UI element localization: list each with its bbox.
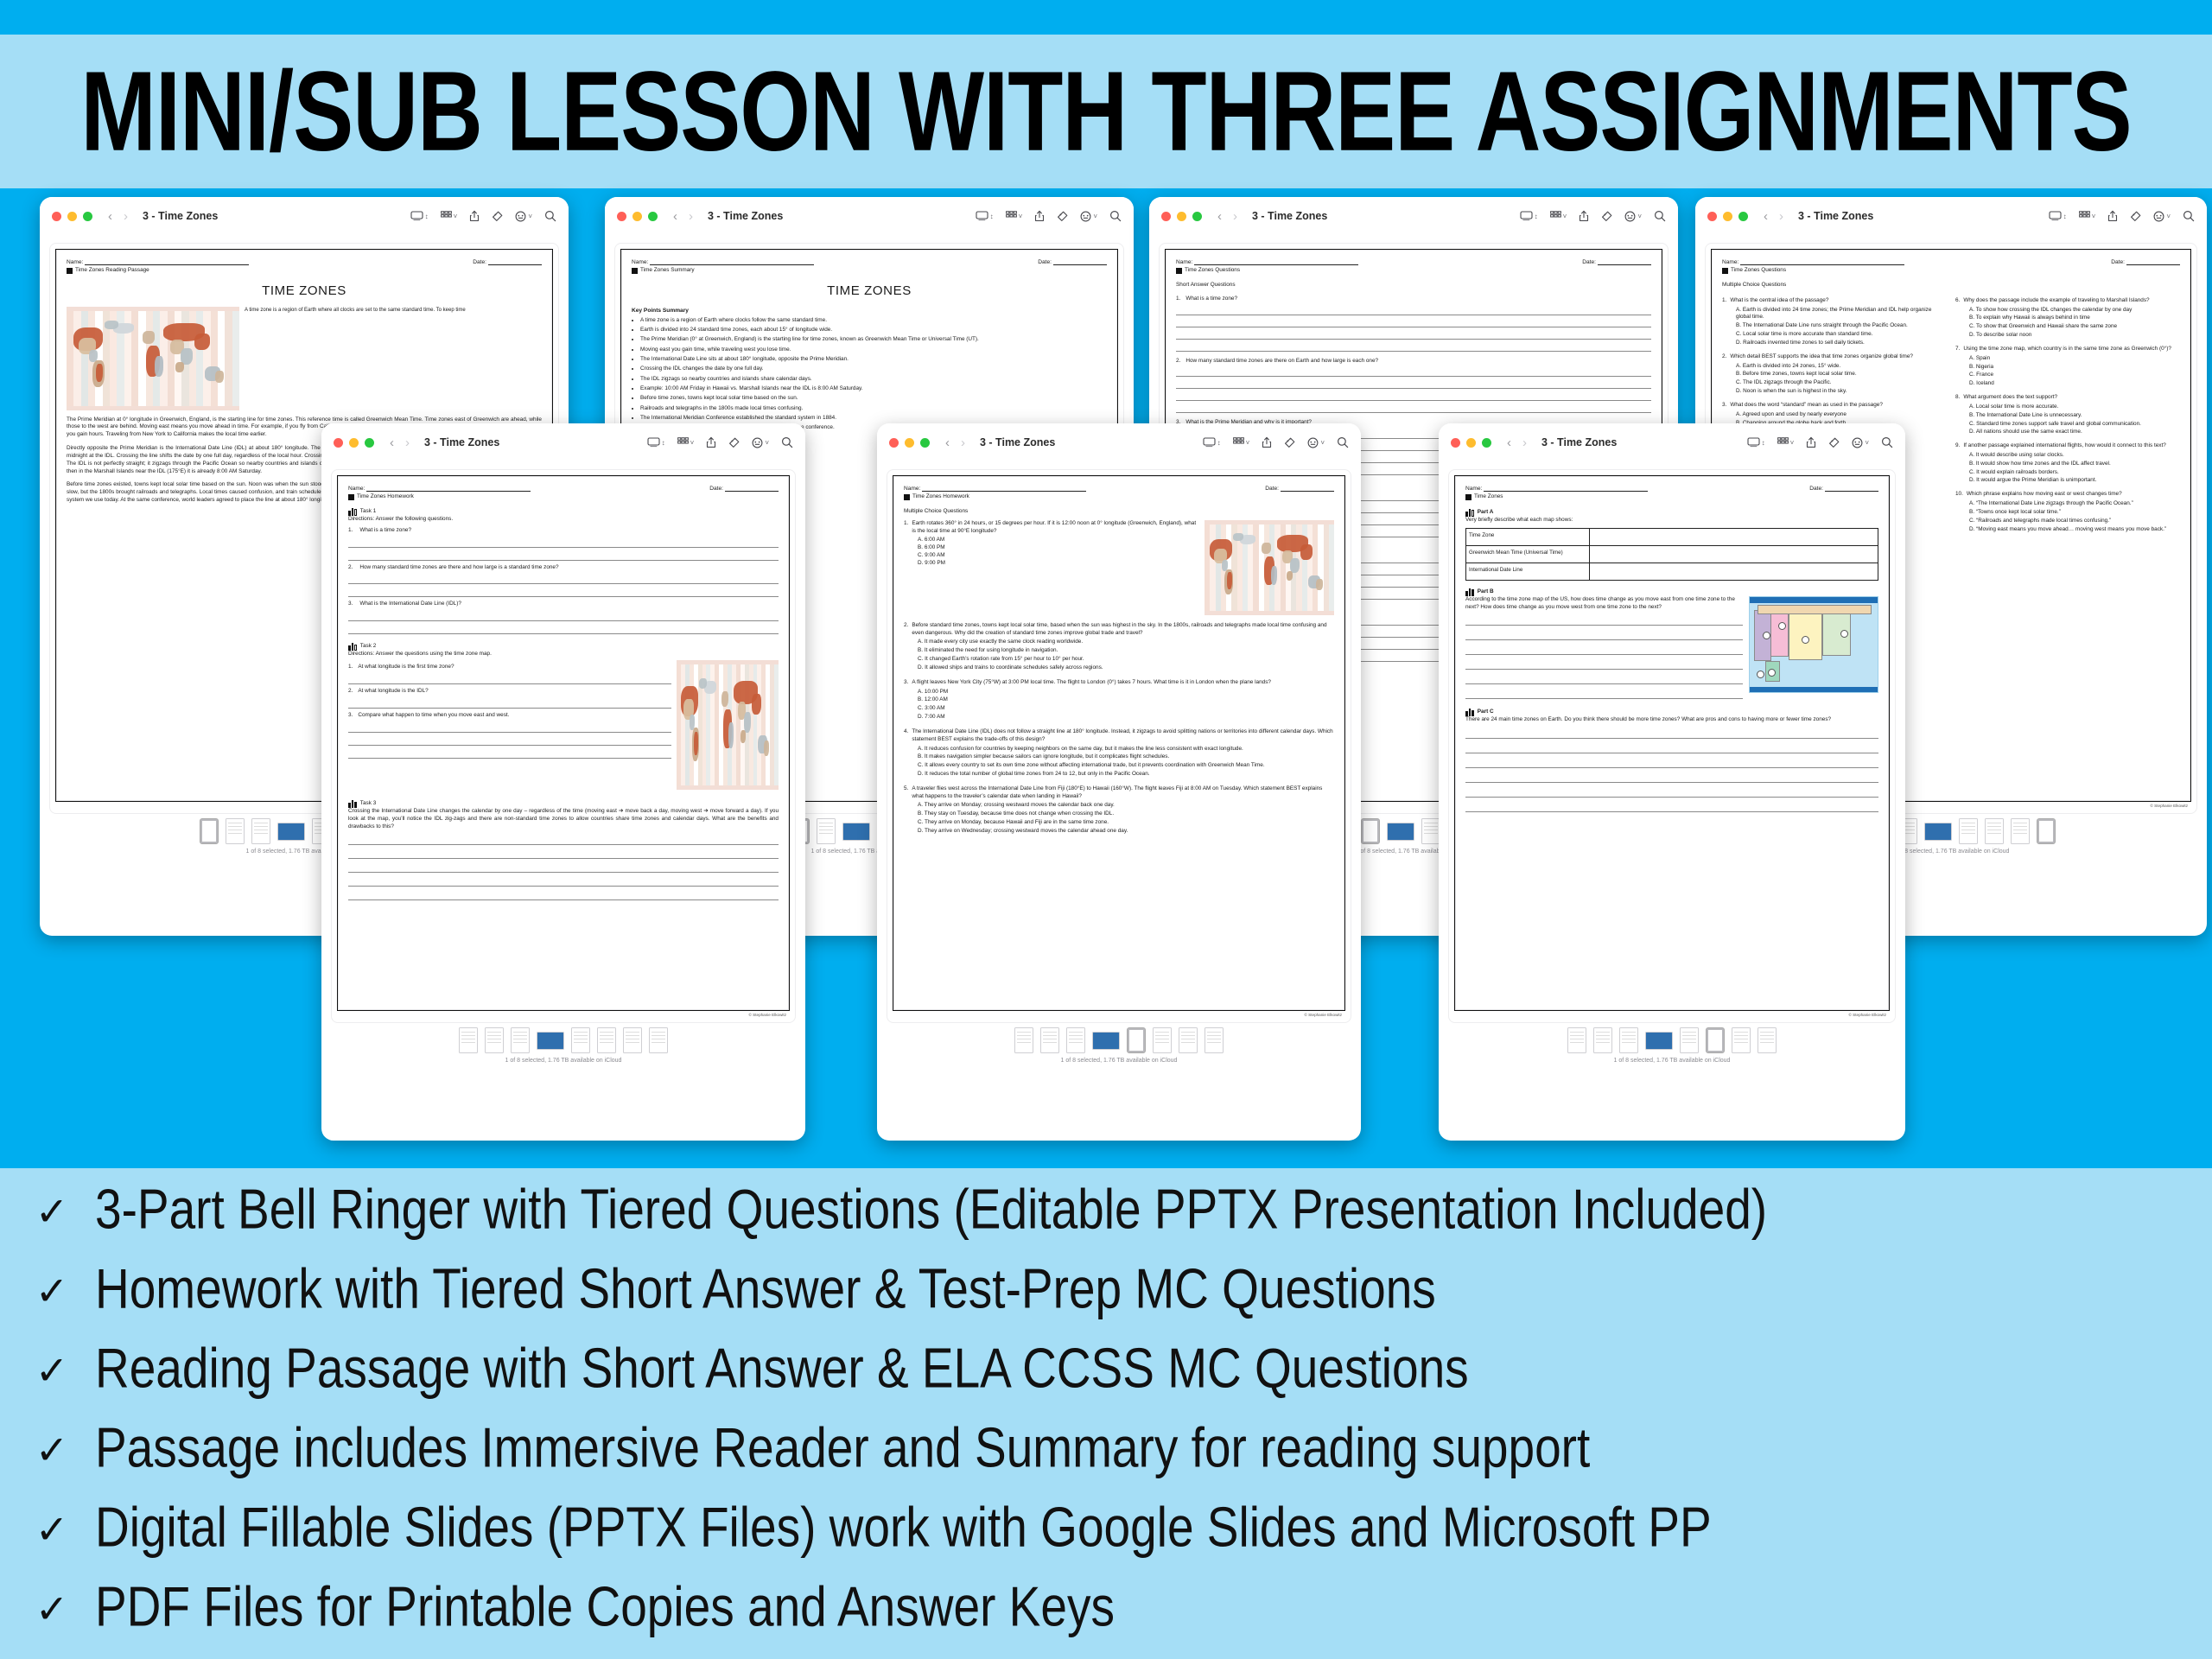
back-icon[interactable]: ‹: [1217, 210, 1222, 223]
forward-icon[interactable]: ›: [1522, 436, 1527, 449]
close-icon[interactable]: [334, 438, 343, 448]
thumbnail-item[interactable]: [459, 1027, 478, 1053]
chevron-down-icon[interactable]: ˅: [690, 439, 695, 447]
search-icon[interactable]: [1654, 210, 1666, 222]
nav-arrows[interactable]: ‹ ›: [945, 436, 965, 449]
thumbnail-item[interactable]: [1014, 1027, 1033, 1053]
thumbnail-item[interactable]: [1619, 1027, 1638, 1053]
thumbnail-item[interactable]: [1040, 1027, 1059, 1053]
name-date-row: Name: Date:: [904, 485, 1334, 493]
back-icon[interactable]: ‹: [673, 210, 677, 223]
close-icon[interactable]: [1161, 212, 1171, 221]
document-tag-label: Time Zones Questions: [1731, 267, 1786, 275]
mc-choice[interactable]: A. Local solar time is more accurate.: [1969, 404, 2180, 411]
mc-choice[interactable]: A. It made every city use exactly the sa…: [918, 639, 1334, 646]
date-label: Date:: [1809, 485, 1823, 493]
name-label: Name:: [1176, 258, 1192, 266]
tag-icon[interactable]: [1057, 211, 1068, 222]
thumbnail-item[interactable]: [571, 1027, 590, 1053]
mc-choice[interactable]: D. It would argue the Prime Meridian is …: [1969, 477, 2180, 485]
thumbnail-item[interactable]: [226, 818, 245, 844]
thumbnail-item[interactable]: [597, 1027, 616, 1053]
more-actions-icon[interactable]: ˅: [1307, 437, 1325, 448]
chevron-down-icon[interactable]: ˅: [765, 439, 769, 447]
chevron-down-icon[interactable]: ˅: [1246, 439, 1250, 447]
name-label: Name:: [904, 485, 920, 493]
gallery-view-icon[interactable]: ↕: [1747, 437, 1765, 448]
view-stepper-icon[interactable]: ↕: [2063, 213, 2067, 220]
mc-choice[interactable]: B. They stay on Tuesday, because time do…: [918, 810, 1334, 818]
answer-line[interactable]: [348, 725, 671, 733]
answer-line[interactable]: [1465, 618, 1743, 626]
task-header: Task 1: [348, 508, 779, 516]
mc-choice[interactable]: D. 9:00 PM: [918, 560, 1198, 568]
document-tag-label: Time Zones Summary: [640, 267, 695, 275]
name-input[interactable]: [1740, 264, 1904, 265]
minimize-icon[interactable]: [67, 212, 77, 221]
map-description-table: Time Zone Greenwich Mean Time (Universal…: [1465, 528, 1878, 581]
back-icon[interactable]: ‹: [108, 210, 112, 223]
answer-line[interactable]: [1465, 790, 1878, 798]
mc-choice[interactable]: C. It would explain railroads borders.: [1969, 469, 2180, 477]
answer-line[interactable]: [1465, 746, 1878, 753]
mc-choice[interactable]: B. It eliminated the need for using long…: [918, 647, 1334, 655]
answer-line[interactable]: [348, 677, 671, 684]
mc-choice[interactable]: D. 7:00 AM: [918, 714, 1334, 721]
date-input[interactable]: [1281, 491, 1334, 492]
answer-line[interactable]: [348, 553, 779, 561]
minimize-icon[interactable]: [1466, 438, 1476, 448]
search-icon[interactable]: [1109, 210, 1122, 222]
forward-icon[interactable]: ›: [689, 210, 693, 223]
task-bar-icon: [1465, 588, 1474, 596]
thumbnail-strip[interactable]: [1449, 1022, 1895, 1056]
answer-line[interactable]: [1465, 632, 1743, 640]
window-bell-ringer[interactable]: ‹ › 3 - Time Zones ↕ ˅ ˅: [1439, 423, 1905, 1141]
thumbnail-item[interactable]: [623, 1027, 642, 1053]
thumbnail-item[interactable]: [1387, 823, 1414, 841]
thumbnail-item-selected[interactable]: [1706, 1027, 1725, 1053]
mc-choice[interactable]: A. It would describe using solar clocks.: [1969, 452, 2180, 460]
answer-line[interactable]: [1465, 647, 1743, 655]
mc-choice[interactable]: C. It allows every country to set its ow…: [918, 762, 1334, 770]
answer-line[interactable]: [348, 589, 779, 597]
mc-choice[interactable]: C. Standard time zones support safe trav…: [1969, 421, 2180, 429]
bullet-square-icon: [1722, 268, 1728, 274]
close-icon[interactable]: [1707, 212, 1717, 221]
summary-heading: Key Points Summary: [632, 307, 1107, 315]
share-icon[interactable]: [706, 436, 716, 448]
thumbnail-item[interactable]: [1066, 1027, 1085, 1053]
question-number: 7.: [1955, 346, 1960, 353]
group-by-icon[interactable]: ˅: [1006, 211, 1023, 221]
thumbnail-item[interactable]: [2011, 818, 2030, 844]
minimize-icon[interactable]: [632, 212, 642, 221]
tag-icon[interactable]: [492, 211, 503, 222]
summary-point: A time zone is a region of Earth where c…: [640, 317, 1107, 325]
group-by-icon[interactable]: ˅: [1550, 211, 1567, 221]
traffic-lights[interactable]: [617, 212, 658, 221]
thumbnail-item[interactable]: [1985, 818, 2004, 844]
answer-line[interactable]: [348, 865, 779, 873]
chevron-down-icon[interactable]: ˅: [1865, 439, 1869, 447]
answer-line[interactable]: [1176, 393, 1651, 401]
forward-icon[interactable]: ›: [961, 436, 965, 449]
document-preview[interactable]: Name: Date: Time Zones Homework Multiple…: [887, 470, 1351, 1022]
thumbnail-item[interactable]: [277, 823, 305, 841]
share-icon[interactable]: [1262, 436, 1272, 448]
chevron-down-icon[interactable]: ˅: [1019, 213, 1023, 220]
question-text: What does the word “standard” mean as us…: [1730, 402, 1883, 410]
mc-choice[interactable]: B. It would show how time zones and the …: [1969, 461, 2180, 468]
document-preview[interactable]: Name: Date: Time Zones Part A Very brief…: [1449, 470, 1895, 1022]
mc-choice[interactable]: A. Spain: [1969, 355, 2180, 363]
share-icon[interactable]: [1579, 210, 1589, 222]
mc-choice[interactable]: A. Earth is divided into 24 time zones; …: [1736, 307, 1947, 322]
mc-choice[interactable]: C. France: [1969, 372, 2180, 379]
mc-choice[interactable]: B. Nigeria: [1969, 364, 2180, 372]
chevron-down-icon[interactable]: ˅: [1790, 439, 1795, 447]
question-text: What is the central idea of the passage?: [1730, 297, 1828, 305]
thumbnail-item[interactable]: [1153, 1027, 1172, 1053]
answer-line[interactable]: [348, 893, 779, 900]
thumbnail-strip[interactable]: [332, 1022, 795, 1056]
chevron-down-icon[interactable]: ˅: [1637, 213, 1642, 220]
date-input[interactable]: [2126, 264, 2180, 265]
chevron-down-icon[interactable]: ˅: [1320, 439, 1325, 447]
search-icon[interactable]: [781, 436, 793, 448]
minimize-icon[interactable]: [1177, 212, 1186, 221]
traffic-lights[interactable]: [52, 212, 92, 221]
view-stepper-icon[interactable]: ↕: [1762, 439, 1765, 447]
mc-choice[interactable]: D. Iceland: [1969, 380, 2180, 388]
answer-line[interactable]: [348, 540, 779, 548]
thumbnail-item[interactable]: [1758, 1027, 1777, 1053]
search-icon[interactable]: [1881, 436, 1893, 448]
more-actions-icon[interactable]: ˅: [1624, 211, 1642, 222]
maximize-icon[interactable]: [1192, 212, 1202, 221]
mc-choice[interactable]: A. “The International Date Line zigzags …: [1969, 500, 2180, 508]
thumbnail-item-selected[interactable]: [1127, 1027, 1146, 1053]
answer-line[interactable]: [348, 751, 671, 759]
mc-choice[interactable]: D. It reduces the total number of global…: [918, 771, 1334, 779]
maximize-icon[interactable]: [1738, 212, 1748, 221]
thumbnail-item[interactable]: [842, 823, 870, 841]
mc-choice[interactable]: B. To explain why Hawaii is always behin…: [1969, 315, 2180, 322]
name-input[interactable]: [1484, 491, 1648, 492]
date-input[interactable]: [725, 491, 779, 492]
answer-line[interactable]: [1176, 308, 1651, 315]
mc-choice[interactable]: B. 12:00 AM: [918, 696, 1334, 704]
window-title: 3 - Time Zones: [424, 436, 499, 448]
view-stepper-icon[interactable]: ↕: [425, 213, 429, 220]
group-by-icon[interactable]: ˅: [1777, 437, 1795, 448]
chevron-down-icon[interactable]: ˅: [1093, 213, 1097, 220]
thumbnail-item[interactable]: [1421, 818, 1440, 844]
thumbnail-item-selected[interactable]: [1361, 818, 1380, 844]
view-stepper-icon[interactable]: ↕: [1535, 213, 1538, 220]
back-icon[interactable]: ‹: [945, 436, 950, 449]
back-icon[interactable]: ‹: [1764, 210, 1768, 223]
back-icon[interactable]: ‹: [1507, 436, 1511, 449]
traffic-lights[interactable]: [1161, 212, 1202, 221]
mc-choice[interactable]: C. 9:00 AM: [918, 552, 1198, 560]
tag-icon[interactable]: [728, 437, 740, 448]
thumbnail-item-selected[interactable]: [2037, 818, 2056, 844]
more-actions-icon[interactable]: ˅: [1852, 437, 1869, 448]
traffic-lights[interactable]: [889, 438, 930, 448]
summary-point: Example: 10:00 AM Friday in Hawaii vs. M…: [640, 385, 1107, 393]
answer-line[interactable]: [1465, 691, 1743, 699]
thumbnail-item[interactable]: [817, 818, 836, 844]
nav-arrows[interactable]: ‹ ›: [1764, 210, 1783, 223]
nav-arrows[interactable]: ‹ ›: [1507, 436, 1527, 449]
close-icon[interactable]: [617, 212, 626, 221]
document-tag-label: Time Zones Homework: [357, 493, 414, 501]
name-date-row: Name: Date:: [1465, 485, 1878, 493]
question-item: 3. Compare what happen to time when you …: [348, 712, 671, 720]
mc-choice[interactable]: A. It reduces confusion for countries by…: [918, 746, 1334, 753]
nav-arrows[interactable]: ‹ ›: [108, 210, 128, 223]
mc-choice[interactable]: D. Railroads invented time zones to sell…: [1736, 340, 1947, 347]
mc-choice[interactable]: C. They arrive on Monday, because Hawaii…: [918, 819, 1334, 827]
mc-choice[interactable]: D. It allowed ships and trains to coordi…: [918, 664, 1334, 672]
thumbnail-item[interactable]: [1593, 1027, 1612, 1053]
thumbnail-item[interactable]: [511, 1027, 530, 1053]
chevron-down-icon[interactable]: ˅: [2092, 213, 2096, 220]
chevron-down-icon[interactable]: ˅: [2166, 213, 2171, 220]
group-by-icon[interactable]: ˅: [1233, 437, 1250, 448]
close-icon[interactable]: [889, 438, 899, 448]
more-actions-icon[interactable]: ˅: [752, 437, 769, 448]
thumbnail-item[interactable]: [1959, 818, 1978, 844]
question-text: What argument does the text support?: [1963, 394, 2057, 402]
answer-line[interactable]: [1465, 775, 1878, 783]
mc-choice[interactable]: A. To show how crossing the IDL changes …: [1969, 307, 2180, 315]
answer-line[interactable]: [348, 576, 779, 584]
part-directions: There are 24 main time zones on Earth. D…: [1465, 716, 1878, 724]
thumbnail-item-selected[interactable]: [200, 818, 219, 844]
more-actions-icon[interactable]: ˅: [2153, 211, 2171, 222]
chevron-down-icon[interactable]: ˅: [1563, 213, 1567, 220]
gallery-view-icon[interactable]: ↕: [976, 211, 994, 221]
forward-icon[interactable]: ›: [1779, 210, 1783, 223]
traffic-lights[interactable]: [1451, 438, 1491, 448]
thumbnail-item[interactable]: [649, 1027, 668, 1053]
window-homework-mc[interactable]: ‹ › 3 - Time Zones ↕ ˅ ˅: [877, 423, 1361, 1141]
name-input[interactable]: [922, 491, 1086, 492]
mc-choice[interactable]: A. Agreed upon and used by nearly everyo…: [1736, 411, 1947, 419]
mc-choice[interactable]: B. “Towns once kept local solar time.”: [1969, 509, 2180, 517]
mc-choice[interactable]: B. It makes navigation simpler because s…: [918, 753, 1334, 761]
share-icon[interactable]: [1806, 436, 1816, 448]
minimize-icon[interactable]: [905, 438, 914, 448]
gallery-view-icon[interactable]: ↕: [2049, 211, 2067, 221]
tag-icon[interactable]: [1601, 211, 1612, 222]
thumbnail-item[interactable]: [1205, 1027, 1224, 1053]
answer-line[interactable]: [348, 851, 779, 859]
task-bar-icon: [348, 800, 357, 808]
maximize-icon[interactable]: [648, 212, 658, 221]
mc-choice[interactable]: A. 10:00 PM: [918, 689, 1334, 696]
mc-choice[interactable]: C. “Railroads and telegraphs made local …: [1969, 518, 2180, 525]
maximize-icon[interactable]: [920, 438, 930, 448]
mc-choice[interactable]: D. To describe solar noon: [1969, 332, 2180, 340]
document-heading: TIME ZONES: [67, 283, 542, 301]
view-stepper-icon[interactable]: ↕: [1217, 439, 1221, 447]
part-label: Part A: [1478, 509, 1494, 517]
bullet-square-icon: [67, 268, 73, 274]
question-number: 1.: [348, 664, 353, 671]
part-header: Part C: [1465, 709, 1878, 716]
gallery-view-icon[interactable]: ↕: [647, 437, 665, 448]
date-input[interactable]: [488, 264, 542, 265]
nav-arrows[interactable]: ‹ ›: [1217, 210, 1237, 223]
document-preview[interactable]: Name: Date: Time Zones Homework Task 1 D…: [332, 470, 795, 1022]
window-homework-short[interactable]: ‹ › 3 - Time Zones ↕ ˅ ˅: [321, 423, 805, 1141]
answer-line[interactable]: [1176, 369, 1651, 377]
name-input[interactable]: [650, 264, 814, 265]
mc-choice[interactable]: C. Local solar time is more accurate tha…: [1736, 331, 1947, 339]
group-by-icon[interactable]: ˅: [677, 437, 695, 448]
part-directions: According to the time zone map of the US…: [1465, 596, 1743, 612]
mc-choice[interactable]: C. 3:00 AM: [918, 705, 1334, 713]
answer-line[interactable]: [348, 879, 779, 887]
answer-line[interactable]: [1176, 332, 1651, 340]
maximize-icon[interactable]: [83, 212, 92, 221]
name-date-row: Name: Date:: [632, 258, 1107, 266]
minimize-icon[interactable]: [349, 438, 359, 448]
tag-icon[interactable]: [1284, 437, 1295, 448]
mc-choice[interactable]: D. “Moving east means you move ahead… mo…: [1969, 526, 2180, 534]
search-icon[interactable]: [544, 210, 556, 222]
table-cell-answer[interactable]: [1590, 563, 1878, 580]
summary-point: The International Date Line sits at abou…: [640, 356, 1107, 364]
answer-line[interactable]: [348, 613, 779, 621]
mc-choice[interactable]: C. The IDL zigzags through the Pacific.: [1736, 379, 1947, 387]
chevron-down-icon[interactable]: ˅: [528, 213, 532, 220]
search-icon[interactable]: [2183, 210, 2195, 222]
traffic-lights[interactable]: [1707, 212, 1748, 221]
mc-choice[interactable]: B. Before time zones, towns kept local s…: [1736, 371, 1947, 378]
date-input[interactable]: [1598, 264, 1651, 265]
thumbnail-item[interactable]: [1680, 1027, 1699, 1053]
mc-question: 8. What argument does the text support? …: [1955, 394, 2180, 436]
nav-arrows[interactable]: ‹ ›: [390, 436, 410, 449]
answer-line[interactable]: [1176, 320, 1651, 327]
question-number: 3.: [904, 679, 908, 687]
mc-choice[interactable]: D. They arrive on Wednesday; crossing we…: [918, 828, 1334, 836]
thumbnail-item[interactable]: [1092, 1032, 1120, 1050]
answer-line[interactable]: [348, 626, 779, 634]
more-actions-icon[interactable]: ˅: [1080, 211, 1097, 222]
forward-icon[interactable]: ›: [124, 210, 128, 223]
check-icon: ✓: [35, 1510, 69, 1549]
search-icon[interactable]: [1337, 436, 1349, 448]
mc-choice[interactable]: A. 6:00 AM: [918, 537, 1198, 544]
answer-line[interactable]: [1176, 405, 1651, 413]
answer-line[interactable]: [1176, 344, 1651, 352]
mc-choice[interactable]: C. It changed Earth’s rotation rate from…: [918, 656, 1334, 664]
answer-line[interactable]: [348, 738, 671, 746]
mc-choice[interactable]: A. They arrive on Monday; crossing westw…: [918, 802, 1334, 810]
mc-choice[interactable]: B. The International Date Line is unnece…: [1969, 412, 2180, 420]
group-by-icon[interactable]: ˅: [441, 211, 458, 221]
answer-line[interactable]: [1465, 731, 1878, 739]
more-actions-icon[interactable]: ˅: [515, 211, 532, 222]
nav-arrows[interactable]: ‹ ›: [673, 210, 693, 223]
thumbnail-strip[interactable]: [887, 1022, 1351, 1056]
minimize-icon[interactable]: [1723, 212, 1732, 221]
thumbnail-item[interactable]: [1179, 1027, 1198, 1053]
thumbnail-item[interactable]: [1645, 1032, 1673, 1050]
mc-choice[interactable]: C. To show that Greenwich and Hawaii sha…: [1969, 323, 2180, 331]
answer-line[interactable]: [1465, 662, 1743, 670]
tag-icon[interactable]: [1828, 437, 1840, 448]
share-icon[interactable]: [469, 210, 480, 222]
answer-line[interactable]: [348, 837, 779, 845]
gallery-view-icon[interactable]: ↕: [1203, 437, 1221, 448]
view-stepper-icon[interactable]: ↕: [662, 439, 665, 447]
share-icon[interactable]: [1034, 210, 1045, 222]
answer-line[interactable]: [348, 701, 671, 709]
chevron-down-icon[interactable]: ˅: [454, 213, 458, 220]
forward-icon[interactable]: ›: [1233, 210, 1237, 223]
thumbnail-item[interactable]: [251, 818, 270, 844]
thumbnail-item[interactable]: [485, 1027, 504, 1053]
back-icon[interactable]: ‹: [390, 436, 394, 449]
close-icon[interactable]: [52, 212, 61, 221]
gallery-view-icon[interactable]: ↕: [410, 211, 429, 221]
maximize-icon[interactable]: [1482, 438, 1491, 448]
name-input[interactable]: [1194, 264, 1358, 265]
status-bar: 1 of 8 selected, 1.76 TB available on iC…: [1449, 1056, 1895, 1069]
forward-icon[interactable]: ›: [405, 436, 410, 449]
document-tag: Time Zones Reading Passage: [67, 267, 542, 275]
table-cell-answer[interactable]: [1590, 545, 1878, 563]
feature-label: Digital Fillable Slides (PPTX Files) wor…: [95, 1499, 1712, 1555]
traffic-lights[interactable]: [334, 438, 374, 448]
name-label: Name:: [67, 258, 83, 266]
mc-choice[interactable]: D. Noon is when the sun is highest in th…: [1736, 388, 1947, 396]
mc-choice[interactable]: B. The International Date Line runs stra…: [1736, 322, 1947, 330]
mc-choice[interactable]: B. 6:00 PM: [918, 544, 1198, 552]
answer-line[interactable]: [1465, 760, 1878, 768]
view-stepper-icon[interactable]: ↕: [990, 213, 994, 220]
thumbnail-item[interactable]: [1924, 823, 1952, 841]
share-icon[interactable]: [2107, 210, 2118, 222]
maximize-icon[interactable]: [365, 438, 374, 448]
date-input[interactable]: [1053, 264, 1107, 265]
gallery-view-icon[interactable]: ↕: [1520, 211, 1538, 221]
close-icon[interactable]: [1451, 438, 1460, 448]
tag-icon[interactable]: [2130, 211, 2141, 222]
answer-line[interactable]: [1465, 804, 1878, 812]
answer-line[interactable]: [1176, 381, 1651, 389]
name-date-row: Name: Date:: [67, 258, 542, 266]
thumbnail-item[interactable]: [1732, 1027, 1751, 1053]
answer-line[interactable]: [1465, 677, 1743, 684]
thumbnail-item[interactable]: [537, 1032, 564, 1050]
mc-choice[interactable]: A. Earth is divided into 24 zones, 15° w…: [1736, 363, 1947, 371]
date-input[interactable]: [1825, 491, 1878, 492]
mc-choice[interactable]: D. All nations should use the same exact…: [1969, 429, 2180, 436]
group-by-icon[interactable]: ˅: [2079, 211, 2096, 221]
table-cell-answer[interactable]: [1590, 528, 1878, 545]
name-input[interactable]: [366, 491, 531, 492]
thumbnail-item[interactable]: [1567, 1027, 1586, 1053]
name-input[interactable]: [85, 264, 249, 265]
